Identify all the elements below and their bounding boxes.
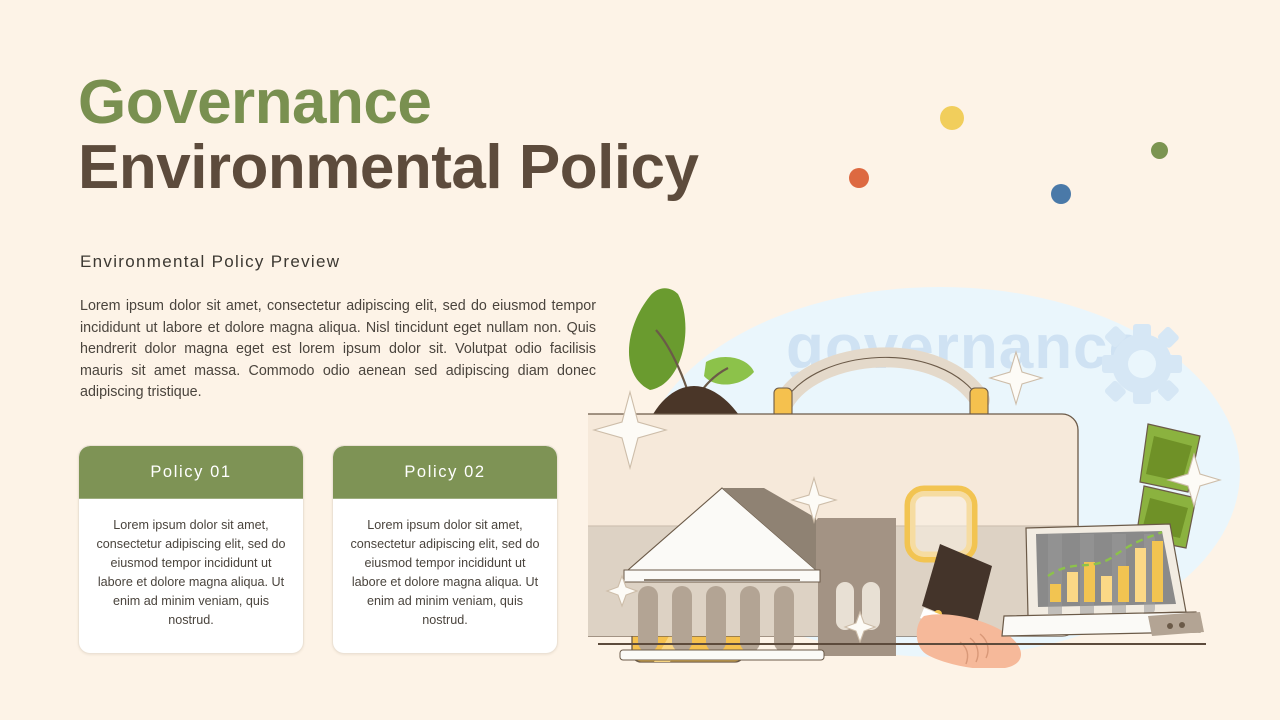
body-paragraph: Lorem ipsum dolor sit amet, consectetur … — [80, 296, 596, 404]
gear-icon-right — [1102, 324, 1182, 404]
policy-card-02[interactable]: Policy 02 Lorem ipsum dolor sit amet, co… — [332, 445, 558, 654]
policy-card-02-header: Policy 02 — [333, 446, 557, 499]
policy-card-01-text: Lorem ipsum dolor sit amet, consectetur … — [95, 516, 287, 630]
policy-card-02-body: Lorem ipsum dolor sit amet, consectetur … — [333, 499, 557, 653]
policy-card-01-header: Policy 01 — [79, 446, 303, 499]
policy-card-02-title: Policy 02 — [404, 463, 485, 482]
title-line-governance: Governance — [78, 72, 818, 133]
policy-card-01-title: Policy 01 — [150, 463, 231, 482]
governance-illustration: governance — [588, 276, 1280, 668]
policy-card-02-text: Lorem ipsum dolor sit amet, consectetur … — [349, 516, 541, 630]
orange-dot — [849, 168, 869, 188]
policy-card-01[interactable]: Policy 01 Lorem ipsum dolor sit amet, co… — [78, 445, 304, 654]
title-line-environmental-policy: Environmental Policy — [78, 137, 818, 198]
sprout-plant — [629, 288, 754, 434]
page-title: Governance Environmental Policy — [78, 72, 818, 199]
slide-canvas: Governance Environmental Policy Environm… — [0, 0, 1280, 720]
blue-dot — [1051, 184, 1071, 204]
yellow-dot — [940, 106, 964, 130]
subtitle: Environmental Policy Preview — [80, 252, 340, 272]
policy-card-01-body: Lorem ipsum dolor sit amet, consectetur … — [79, 499, 303, 653]
green-dot — [1151, 142, 1168, 159]
policy-card-list: Policy 01 Lorem ipsum dolor sit amet, co… — [78, 445, 558, 654]
